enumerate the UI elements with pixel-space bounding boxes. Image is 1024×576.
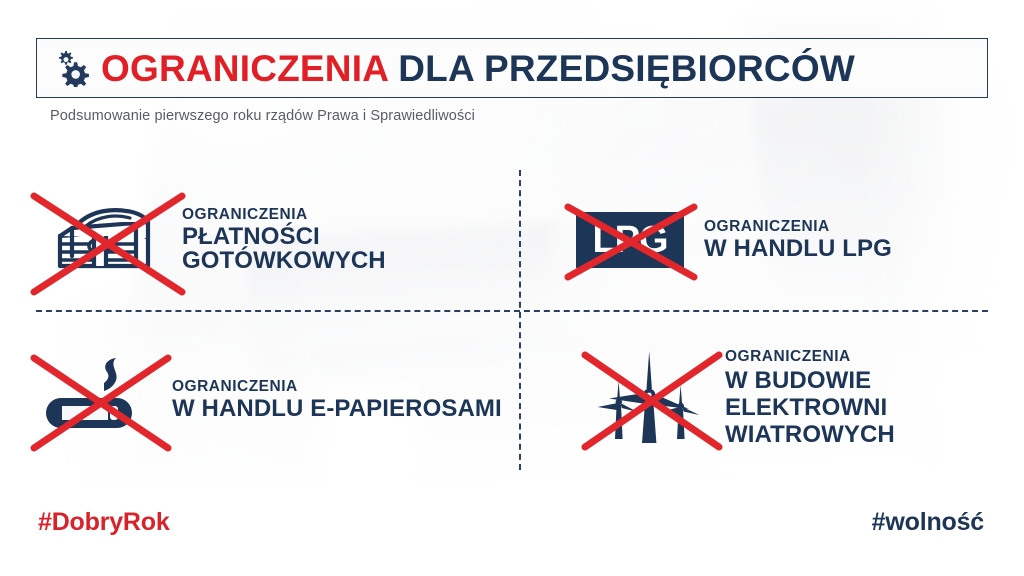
- restriction-label-line1: OGRANICZENIA: [725, 349, 988, 365]
- restriction-label: OGRANICZENIA W BUDOWIE ELEKTROWNI WIATRO…: [725, 349, 988, 448]
- lpg-plate: LPG: [576, 212, 684, 268]
- restriction-label: OGRANICZENIA PŁATNOŚCI GOTÓWKOWYCH: [182, 207, 506, 274]
- restriction-label-line2: W BUDOWIE ELEKTROWNI: [725, 368, 988, 422]
- divider-horizontal: [36, 310, 988, 312]
- restriction-item-e-cigarettes: OGRANICZENIA W HANDLU E-PAPIEROSAMI: [36, 330, 506, 470]
- title-banner: OGRANICZENIA DLA PRZEDSIĘBIORCÓW: [36, 38, 988, 98]
- hashtag-dobryrok: #DobryRok: [38, 508, 170, 537]
- banknotes-icon: [36, 192, 168, 288]
- page-title: OGRANICZENIA DLA PRZEDSIĘBIORCÓW: [101, 50, 855, 87]
- restriction-label-line2: W HANDLU LPG: [704, 237, 892, 261]
- title-highlight: OGRANICZENIA: [101, 48, 388, 89]
- restriction-label-line2: W HANDLU E-PAPIEROSAMI: [172, 397, 502, 421]
- restriction-item-lpg: LPG OGRANICZENIA W HANDLU LPG: [576, 170, 988, 310]
- restriction-item-cash-payments: OGRANICZENIA PŁATNOŚCI GOTÓWKOWYCH: [36, 170, 506, 310]
- restriction-label-line2: PŁATNOŚCI GOTÓWKOWYCH: [182, 225, 506, 273]
- e-cigarette-icon: [36, 352, 156, 448]
- restriction-label-line1: OGRANICZENIA: [704, 219, 892, 235]
- restriction-label: OGRANICZENIA W HANDLU E-PAPIEROSAMI: [172, 379, 502, 422]
- restriction-item-wind-power: OGRANICZENIA W BUDOWIE ELEKTROWNI WIATRO…: [591, 328, 988, 470]
- lpg-plate-icon: LPG: [576, 195, 684, 285]
- gears-icon: [53, 47, 93, 87]
- divider-vertical: [519, 170, 521, 470]
- wind-turbines-icon: [591, 347, 709, 451]
- lpg-plate-text: LPG: [592, 221, 667, 259]
- restriction-label: OGRANICZENIA W HANDLU LPG: [704, 219, 892, 262]
- title-rest: DLA PRZEDSIĘBIORCÓW: [388, 48, 855, 89]
- hashtag-wolnosc: #wolność: [872, 508, 984, 537]
- restriction-label-line1: OGRANICZENIA: [182, 207, 506, 223]
- restrictions-grid: OGRANICZENIA PŁATNOŚCI GOTÓWKOWYCH LPG O…: [36, 170, 988, 470]
- subtitle: Podsumowanie pierwszego roku rządów Praw…: [50, 108, 475, 124]
- restriction-label-line1: OGRANICZENIA: [172, 379, 502, 395]
- restriction-label-line3: WIATROWYCH: [725, 422, 988, 449]
